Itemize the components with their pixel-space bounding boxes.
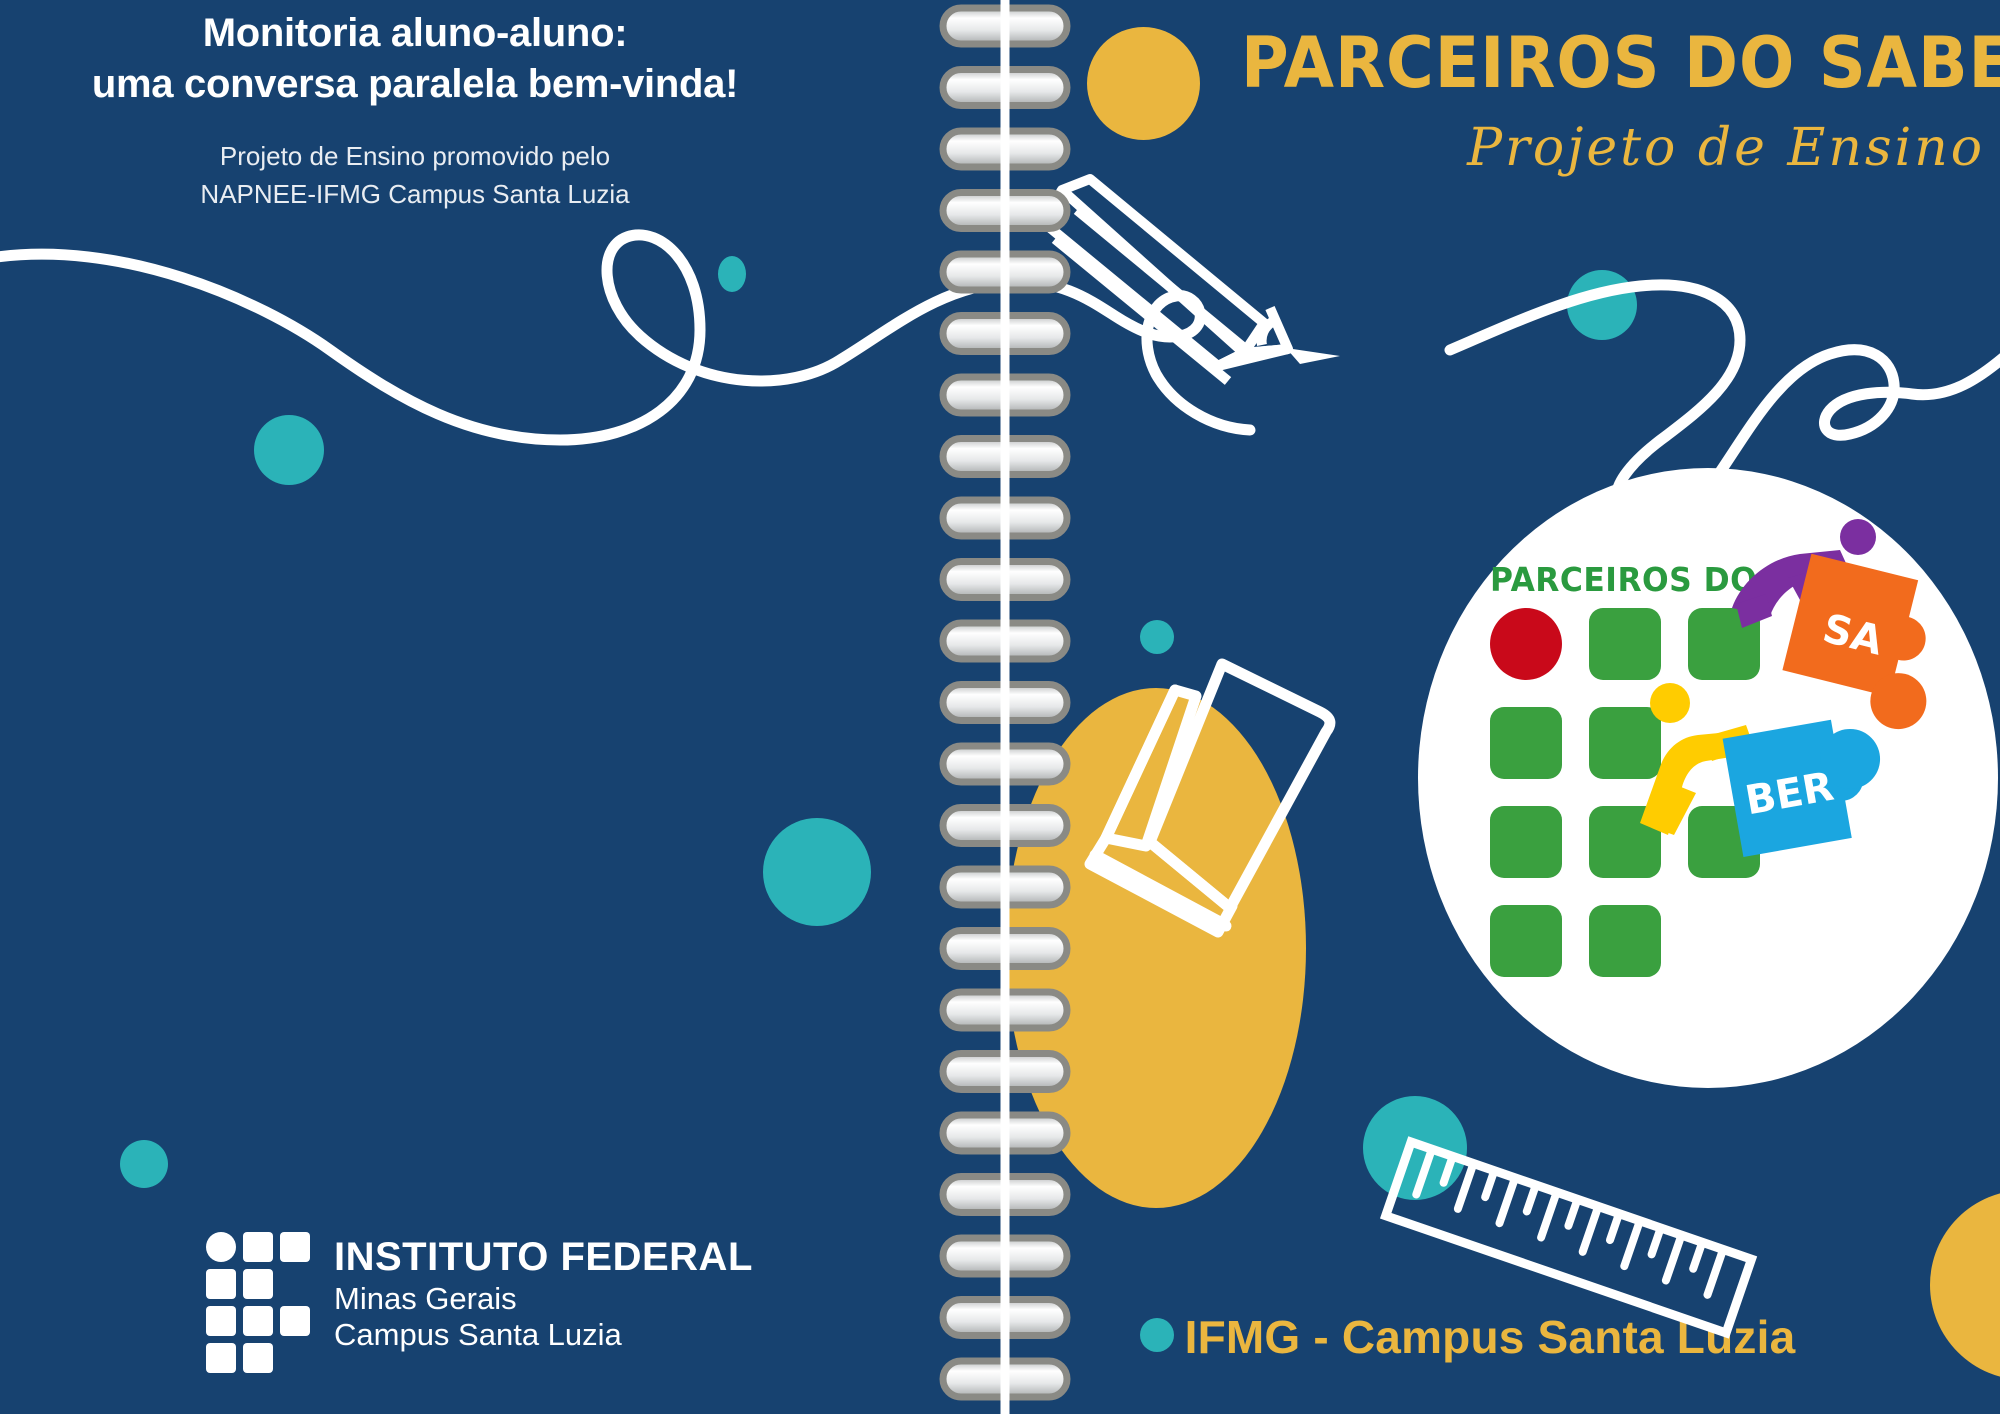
page-title: Monitoria aluno-aluno: uma conversa para… — [0, 8, 830, 110]
ifmg-name-primary: INSTITUTO FEDERAL — [334, 1236, 753, 1279]
ifmg-logo-mark — [206, 1232, 320, 1372]
ifmg-mark-cell-circle — [206, 1232, 236, 1262]
decor-circle-yellow-large-left — [1006, 688, 1306, 1208]
ifmg-mark-cell — [243, 1343, 273, 1373]
spiral-ring — [943, 623, 1067, 659]
project-logo: PARCEIROS DO SA — [1490, 560, 1920, 990]
spiral-ring — [943, 439, 1067, 475]
decor-circle-yellow-topright — [1087, 27, 1200, 140]
ifmg-mark-cell — [280, 1232, 310, 1262]
spiral-ring — [943, 1177, 1067, 1213]
ifmg-mark-cell — [206, 1343, 236, 1373]
spiral-ring — [943, 500, 1067, 536]
logo-tile-red — [1490, 608, 1562, 680]
ifmg-logo: INSTITUTO FEDERAL Minas Gerais Campus Sa… — [206, 1232, 766, 1382]
logo-puzzle-lower-group: BER — [1630, 675, 1950, 925]
spiral-ring — [943, 377, 1067, 413]
left-panel: Monitoria aluno-aluno: uma conversa para… — [0, 0, 940, 1414]
ifmg-mark-cell — [206, 1306, 236, 1336]
spiral-ring — [943, 316, 1067, 352]
headline-line-1: Monitoria aluno-aluno: — [203, 11, 627, 55]
ifmg-mark-cell — [243, 1232, 273, 1262]
logo-tile — [1589, 608, 1661, 680]
spiral-ring — [943, 562, 1067, 598]
spiral-ring — [943, 193, 1067, 229]
spiral-ring — [943, 685, 1067, 721]
spiral-ring — [943, 1238, 1067, 1274]
decor-circle-teal-small-5 — [1567, 270, 1637, 340]
spiral-ring — [943, 1361, 1067, 1397]
spiral-ring — [943, 70, 1067, 106]
ifmg-mark-cell — [243, 1306, 273, 1336]
ifmg-name-tertiary: Campus Santa Luzia — [334, 1317, 753, 1353]
ifmg-name-secondary: Minas Gerais — [334, 1281, 753, 1317]
decor-circle-teal-small-2 — [1140, 620, 1174, 654]
headline-line-2: uma conversa paralela bem-vinda! — [0, 59, 830, 110]
campus-label: IFMG - Campus Santa Luzia — [1080, 1310, 1900, 1364]
ifmg-mark-cell — [243, 1269, 273, 1299]
brand-subtitle: Projeto de Ensino — [1185, 118, 1985, 178]
spiral-ring — [943, 131, 1067, 167]
decor-circle-teal-medium-2 — [1363, 1096, 1467, 1200]
brand-title: PARCEIROS DO SABER — [1241, 22, 1985, 104]
logo-tile — [1490, 806, 1562, 878]
decor-circle-yellow-bottomright — [1930, 1190, 2000, 1380]
logo-tile — [1490, 905, 1562, 977]
spiral-ring — [943, 1300, 1067, 1336]
ifmg-mark-cell — [280, 1306, 310, 1336]
ifmg-logo-wordmark: INSTITUTO FEDERAL Minas Gerais Campus Sa… — [334, 1236, 753, 1352]
spiral-ring — [943, 8, 1067, 44]
subtitle: Projeto de Ensino promovido pelo NAPNEE-… — [0, 138, 830, 213]
logo-tile — [1490, 707, 1562, 779]
spiral-ring — [943, 254, 1067, 290]
subtitle-line-1: Projeto de Ensino promovido pelo — [0, 138, 830, 176]
ifmg-mark-cell — [206, 1269, 236, 1299]
subtitle-line-2: NAPNEE-IFMG Campus Santa Luzia — [0, 176, 830, 214]
brochure-cover: Monitoria aluno-aluno: uma conversa para… — [0, 0, 2000, 1414]
